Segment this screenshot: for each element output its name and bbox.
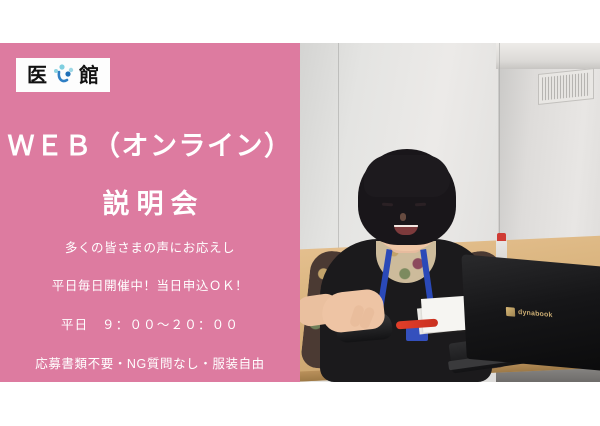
- laptop: dynabook: [450, 261, 600, 382]
- person-nose: [400, 213, 406, 221]
- promo-detail-line-1: 多くの皆さまの声にお応えし: [0, 242, 300, 255]
- photo-ceiling: [496, 43, 600, 69]
- promo-detail-line-2: 平日毎日開催中！当日申込ＯＫ！: [0, 280, 300, 293]
- headline-secondary: 説明会: [0, 191, 300, 218]
- person-hair-fringe: [364, 155, 450, 197]
- logo-kanji-right: 館: [79, 65, 99, 85]
- promo-detail-line-4: 応募書類不要・NG質問なし・服装自由: [0, 358, 300, 371]
- promo-detail-hours: 平日 ９：００〜２０：００: [0, 319, 300, 332]
- banner-canvas: 医 館 ＷＥＢ（オンライン） 説明会 多くの皆さまの声にお応えし 平日毎日開催中…: [0, 43, 600, 382]
- wall-vent-icon: [538, 68, 594, 105]
- promo-photo: dynabook: [300, 43, 600, 382]
- dynabook-glyph-icon: [506, 307, 515, 317]
- banner-root: 医 館 ＷＥＢ（オンライン） 説明会 多くの皆さまの声にお応えし 平日毎日開催中…: [0, 0, 600, 426]
- kokoro-dot-mark-icon: [50, 63, 76, 87]
- headline-primary: ＷＥＢ（オンライン）: [0, 133, 300, 160]
- brand-logo: 医 館: [16, 58, 110, 92]
- logo-kanji-left: 医: [27, 65, 47, 85]
- wall-vent-slats: [542, 72, 590, 100]
- person-eye-right: [415, 203, 426, 207]
- promo-pink-panel: 医 館 ＷＥＢ（オンライン） 説明会 多くの皆さまの声にお応えし 平日毎日開催中…: [0, 43, 300, 382]
